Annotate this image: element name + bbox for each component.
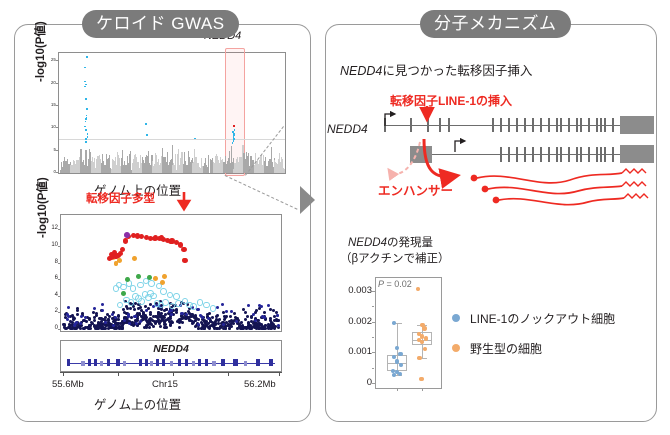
regional-point <box>276 314 279 317</box>
manhattan-point <box>279 170 280 173</box>
manhattan-point <box>78 169 79 173</box>
manhattan-point <box>154 170 155 173</box>
gene-exon <box>178 359 181 366</box>
regional-point <box>67 306 70 309</box>
manhattan-significant-point <box>86 56 88 58</box>
manhattan-point <box>208 167 209 173</box>
manhattan-y-tickmark <box>56 105 59 106</box>
regional-gene-track: NEDD4 <box>60 340 282 372</box>
regional-x-tick-label: 56.2Mb <box>244 379 276 390</box>
regional-point <box>148 280 155 287</box>
manhattan-point <box>260 160 261 173</box>
expression-title-gene: NEDD4 <box>348 237 387 249</box>
manhattan-point <box>123 169 124 173</box>
regional-point <box>162 299 169 306</box>
regional-point <box>178 326 181 329</box>
isoform-exon <box>576 118 578 132</box>
manhattan-point <box>162 160 163 173</box>
manhattan-point <box>152 170 153 173</box>
regional-y-tickmark <box>58 312 61 313</box>
regional-y-tick: 4 <box>44 292 58 298</box>
manhattan-point <box>211 168 212 173</box>
regional-point <box>66 318 69 321</box>
regional-point <box>125 277 130 282</box>
regional-x-tickmark <box>279 372 280 376</box>
regional-point <box>130 285 137 292</box>
manhattan-significant-point <box>86 108 88 110</box>
manhattan-point <box>229 156 230 173</box>
expression-data-point <box>424 336 428 340</box>
regional-point <box>93 319 96 322</box>
isoform-exon <box>576 147 578 162</box>
regional-x-tick-label: 55.6Mb <box>52 379 84 390</box>
regional-point <box>165 326 168 329</box>
regional-point <box>150 293 157 300</box>
gene-exon <box>221 359 225 366</box>
manhattan-point <box>190 170 191 173</box>
regional-point <box>93 307 96 310</box>
manhattan-point <box>102 170 103 173</box>
manhattan-point <box>138 169 139 173</box>
expression-y-minor-tickmark <box>372 337 374 338</box>
regional-point <box>173 293 180 300</box>
gene-exon <box>81 361 85 366</box>
manhattan-point <box>267 170 268 173</box>
isoform-exon <box>548 118 550 132</box>
regional-point <box>162 319 165 322</box>
regional-point <box>176 320 179 323</box>
manhattan-significant-point <box>85 118 87 120</box>
regional-point <box>135 322 138 325</box>
regional-point <box>158 312 161 315</box>
regional-point <box>101 309 104 312</box>
gene-exon <box>269 359 273 366</box>
isoform-exon <box>588 118 590 132</box>
regional-point <box>153 276 158 281</box>
manhattan-y-tick: 20 <box>40 80 56 85</box>
manhattan-point <box>72 170 73 173</box>
expression-data-point <box>399 363 403 367</box>
regional-point <box>211 324 214 327</box>
regional-y-tickmark <box>58 279 61 280</box>
expression-y-minor-tickmark <box>372 368 374 369</box>
manhattan-point <box>127 156 128 173</box>
gene-exon <box>123 361 126 366</box>
isoform-exon <box>556 118 558 132</box>
expression-y-tick-label: 0.003 <box>338 285 372 296</box>
regional-x-tick-label: Chr15 <box>152 379 178 390</box>
regional-point <box>168 239 173 244</box>
regional-point <box>132 256 137 261</box>
isoform-exon <box>532 147 534 162</box>
regional-point <box>111 313 114 316</box>
expression-data-point <box>392 373 396 377</box>
regional-y-tick: 8 <box>44 259 58 265</box>
regional-point <box>210 305 217 312</box>
expression-y-tickmark <box>372 352 375 353</box>
legend-marker <box>452 314 460 322</box>
manhattan-point <box>173 163 174 173</box>
manhattan-point <box>243 153 244 173</box>
regional-point <box>203 302 210 309</box>
regional-point <box>273 319 276 322</box>
regional-gene-name: NEDD4 <box>61 343 281 355</box>
expression-pvalue-annotation: P = 0.02 <box>378 279 412 289</box>
manhattan-point <box>76 160 77 173</box>
manhattan-point <box>270 159 271 173</box>
isoform-exon <box>427 118 429 132</box>
regional-point <box>190 303 197 310</box>
isoform-exon <box>548 147 550 162</box>
regional-point <box>191 320 194 323</box>
regional-point <box>160 280 165 285</box>
regional-y-tickmark <box>58 246 61 247</box>
regional-point <box>263 311 266 314</box>
regional-point <box>195 317 198 320</box>
gene-exon <box>107 359 110 366</box>
manhattan-point <box>157 166 158 173</box>
isoform-exon <box>604 147 606 162</box>
isoform-exon <box>612 118 614 132</box>
expression-data-point <box>392 355 396 359</box>
regional-point <box>249 325 252 328</box>
manhattan-significant-point <box>146 134 148 136</box>
manhattan-point <box>94 158 95 173</box>
manhattan-significant-point <box>87 133 89 135</box>
regional-point <box>162 274 167 279</box>
manhattan-point <box>142 161 143 173</box>
regional-y-tick: 10 <box>44 242 58 248</box>
regional-lead-variant-annotation: 転移因子多型 <box>86 190 155 206</box>
manhattan-point <box>67 164 68 173</box>
manhattan-significant-point <box>84 86 86 88</box>
isoform-exon <box>384 118 386 132</box>
legend-label: LINE-1のノックアウト細胞 <box>470 310 615 327</box>
manhattan-point <box>194 163 195 173</box>
regional-point <box>216 327 219 330</box>
gene-exon <box>156 359 159 366</box>
pvalue-value: = 0.02 <box>384 279 412 289</box>
manhattan-point <box>219 170 220 173</box>
regional-point <box>117 322 120 325</box>
gene-exon <box>212 361 216 366</box>
regional-point <box>114 261 119 266</box>
expression-y-tick-label: 0.002 <box>338 316 372 327</box>
manhattan-point <box>272 165 273 173</box>
gene-exon <box>94 359 97 366</box>
legend-marker <box>452 344 460 352</box>
expression-title-line1: NEDD4の発現量 <box>348 234 433 250</box>
regional-point <box>107 318 110 321</box>
manhattan-point <box>276 163 277 173</box>
manhattan-point <box>206 170 207 173</box>
regional-point <box>80 315 83 318</box>
line1-insertion-label: 転移因子LINE-1の挿入 <box>390 92 512 109</box>
manhattan-point <box>97 168 98 173</box>
regional-point <box>147 275 152 280</box>
expression-y-tickmark <box>372 291 375 292</box>
regional-association-plot: -log10(P値) 転移因子多型 NEDD4 ゲノム上の位置 12108642… <box>60 214 282 332</box>
manhattan-point <box>132 169 133 173</box>
regional-point <box>235 320 238 323</box>
regional-point <box>86 326 89 329</box>
isoform-exon <box>560 118 562 132</box>
manhattan-point <box>262 170 263 173</box>
isoform-exon <box>540 147 542 162</box>
manhattan-y-tickmark <box>56 83 59 84</box>
regional-point <box>175 308 178 311</box>
isoform-backbone <box>384 125 622 126</box>
gene-model-label: NEDD4 <box>327 122 368 136</box>
expression-data-point <box>419 377 423 381</box>
regional-point <box>114 316 117 319</box>
regional-point <box>260 305 263 308</box>
expression-data-point <box>398 352 402 356</box>
regional-point <box>83 319 86 322</box>
isoform-exon <box>500 147 502 162</box>
regional-point <box>125 305 128 308</box>
regional-point <box>159 235 164 240</box>
isoform-exon <box>516 118 518 132</box>
regional-y-tickmark <box>58 329 61 330</box>
isoform-exon <box>508 118 510 132</box>
manhattan-point <box>180 170 181 173</box>
manhattan-point <box>107 159 108 173</box>
manhattan-point <box>91 163 92 173</box>
manhattan-point <box>64 160 65 173</box>
manhattan-point <box>124 167 125 173</box>
nedd4-gene-model <box>382 108 654 170</box>
regional-point <box>124 232 130 238</box>
regional-x-axis <box>60 372 282 373</box>
manhattan-y-tick: 10 <box>40 124 56 129</box>
manhattan-significant-point <box>85 138 87 140</box>
manhattan-point <box>146 155 147 173</box>
expression-x-tickmark <box>422 388 423 391</box>
regional-point <box>95 314 98 317</box>
isoform-exon <box>500 118 502 132</box>
regional-point <box>101 303 104 306</box>
regional-point <box>140 309 143 312</box>
regional-point <box>160 288 167 295</box>
manhattan-y-tickmark <box>56 127 59 128</box>
regional-point <box>244 318 247 321</box>
manhattan-y-tick: 15 <box>40 102 56 107</box>
manhattan-plot: -log10(P値) ゲノム上の位置 NEDD4 2520151050 <box>58 52 286 174</box>
regional-point <box>121 291 126 296</box>
regional-point <box>263 327 266 330</box>
regional-point <box>267 304 270 307</box>
manhattan-significant-point <box>84 126 86 128</box>
isoform-exon <box>560 147 562 162</box>
manhattan-point <box>129 169 130 173</box>
manhattan-point <box>147 157 148 173</box>
expression-data-point <box>417 356 421 360</box>
isoform-exon <box>600 118 602 132</box>
regional-y-tickmark <box>58 296 61 297</box>
manhattan-point <box>113 170 114 173</box>
isoform-exon <box>580 118 582 132</box>
regional-point <box>224 327 227 330</box>
manhattan-point <box>144 163 145 173</box>
regional-point <box>136 274 141 279</box>
gene-exon <box>256 359 260 366</box>
regional-point <box>242 308 245 311</box>
manhattan-point <box>164 161 165 173</box>
manhattan-point <box>196 164 197 173</box>
isoform-exon <box>540 118 542 132</box>
expression-data-point <box>422 326 426 330</box>
isoform-exon <box>532 118 534 132</box>
manhattan-point <box>134 169 135 173</box>
isoform-exon <box>524 147 526 162</box>
manhattan-significant-point <box>84 67 86 69</box>
manhattan-point <box>282 159 283 173</box>
gene-exon <box>198 359 201 366</box>
regional-point <box>134 315 137 318</box>
manhattan-y-axis-label: -log10(P値) <box>32 21 48 82</box>
isoform-exon <box>448 118 450 132</box>
isoform-exon <box>600 147 602 162</box>
isoform-exon <box>492 118 494 132</box>
expression-x-tickmark <box>397 388 398 391</box>
isoform-exon <box>556 147 558 162</box>
isoform-exon <box>568 147 570 162</box>
mechanism-heading: NEDD4に見つかった転移因子挿入 <box>340 60 532 79</box>
regional-point <box>163 316 166 319</box>
manhattan-point <box>169 162 170 173</box>
isoform-terminal-exon <box>620 145 654 163</box>
manhattan-point <box>198 163 199 173</box>
gene-exon <box>244 361 247 366</box>
manhattan-significant-point <box>85 129 87 131</box>
regional-point <box>246 315 249 318</box>
regional-point <box>156 316 159 319</box>
manhattan-point <box>204 163 205 173</box>
isoform-exon <box>588 147 590 162</box>
regional-lead-variant-arrow-icon <box>176 190 192 212</box>
manhattan-point <box>61 168 62 173</box>
manhattan-y-tickmark <box>56 60 59 61</box>
manhattan-point <box>264 161 265 173</box>
manhattan-lead-variant <box>233 125 235 127</box>
manhattan-point <box>103 170 104 173</box>
isoform-terminal-exon <box>410 146 432 163</box>
gene-exon <box>116 359 120 366</box>
regional-point <box>175 300 182 307</box>
gene-exon <box>170 361 173 366</box>
regional-x-tickmark <box>63 372 64 376</box>
gene-exon <box>100 361 103 366</box>
regional-point <box>121 324 124 327</box>
manhattan-point <box>116 166 117 173</box>
manhattan-y-tickmark <box>56 172 59 173</box>
isoform-exon <box>524 118 526 132</box>
regional-point <box>71 327 74 330</box>
manhattan-point <box>188 170 189 173</box>
manhattan-y-tick: 25 <box>40 57 56 62</box>
gene-exon <box>88 359 91 366</box>
regional-point <box>239 327 242 330</box>
mechanism-heading-rest: に見つかった転移因子挿入 <box>382 64 532 78</box>
regional-y-tickmark <box>58 263 61 264</box>
manhattan-point <box>214 170 215 173</box>
manhattan-significant-point <box>86 115 88 117</box>
regional-point <box>225 310 228 313</box>
regional-point <box>133 308 136 311</box>
gene-exon <box>205 359 208 366</box>
regional-point <box>148 326 151 329</box>
panel-title-keloid-gwas: ケロイド GWAS <box>82 10 239 38</box>
manhattan-point <box>117 170 118 173</box>
regional-y-tick: 0 <box>44 325 58 331</box>
manhattan-point <box>83 167 84 173</box>
regional-point <box>181 247 186 252</box>
regional-point <box>269 308 272 311</box>
expression-data-point <box>420 340 424 344</box>
regional-y-tick: 6 <box>44 275 58 281</box>
panel-title-molecular-mechanism: 分子メカニズム <box>420 10 571 38</box>
regional-point <box>128 322 131 325</box>
gene-exon <box>150 361 153 366</box>
expression-y-tickmark <box>372 322 375 323</box>
regional-point <box>260 324 263 327</box>
regional-point <box>252 313 255 316</box>
manhattan-point <box>221 160 222 173</box>
gene-exon <box>162 359 165 366</box>
manhattan-point <box>185 164 186 173</box>
isoform-terminal-exon <box>620 116 654 134</box>
manhattan-significant-point <box>85 98 87 100</box>
expression-title-line2: （βアクチンで補正） <box>340 250 450 266</box>
manhattan-y-tickmark <box>56 150 59 151</box>
manhattan-significant-point <box>85 141 87 143</box>
isoform-exon <box>580 147 582 162</box>
gene-exon <box>192 361 195 366</box>
gene-exon <box>145 359 148 366</box>
regional-point <box>127 313 130 316</box>
legend-label: 野生型の細胞 <box>470 340 542 357</box>
isoform-exon <box>596 118 598 132</box>
manhattan-point <box>237 161 238 173</box>
regional-y-tickmark <box>58 229 61 230</box>
manhattan-significant-point <box>85 121 87 123</box>
isoform-exon <box>612 147 614 162</box>
regional-point <box>245 327 248 330</box>
isoform-exon <box>516 147 518 162</box>
regional-point <box>123 238 128 243</box>
manhattan-significant-point <box>84 81 86 83</box>
regional-y-tick: 12 <box>44 225 58 231</box>
gene-exon <box>233 359 238 366</box>
isoform-exon <box>568 118 570 132</box>
expression-title-suffix: の発現量 <box>387 237 433 249</box>
flow-arrow-icon <box>300 186 315 214</box>
regional-y-tick: 2 <box>44 308 58 314</box>
regional-x-tickmark <box>118 372 119 376</box>
isoform-exon <box>410 118 412 132</box>
regional-point <box>136 312 139 315</box>
manhattan-point <box>284 170 285 173</box>
manhattan-point <box>257 167 258 173</box>
expression-y-tick-label: 0.001 <box>338 346 372 357</box>
regional-x-axis-label: ゲノム上の位置 <box>94 394 181 413</box>
manhattan-significance-line <box>59 139 285 140</box>
gene-exon <box>67 359 70 366</box>
manhattan-point <box>168 169 169 173</box>
manhattan-significant-point <box>194 138 196 140</box>
manhattan-significant-point <box>232 142 234 144</box>
